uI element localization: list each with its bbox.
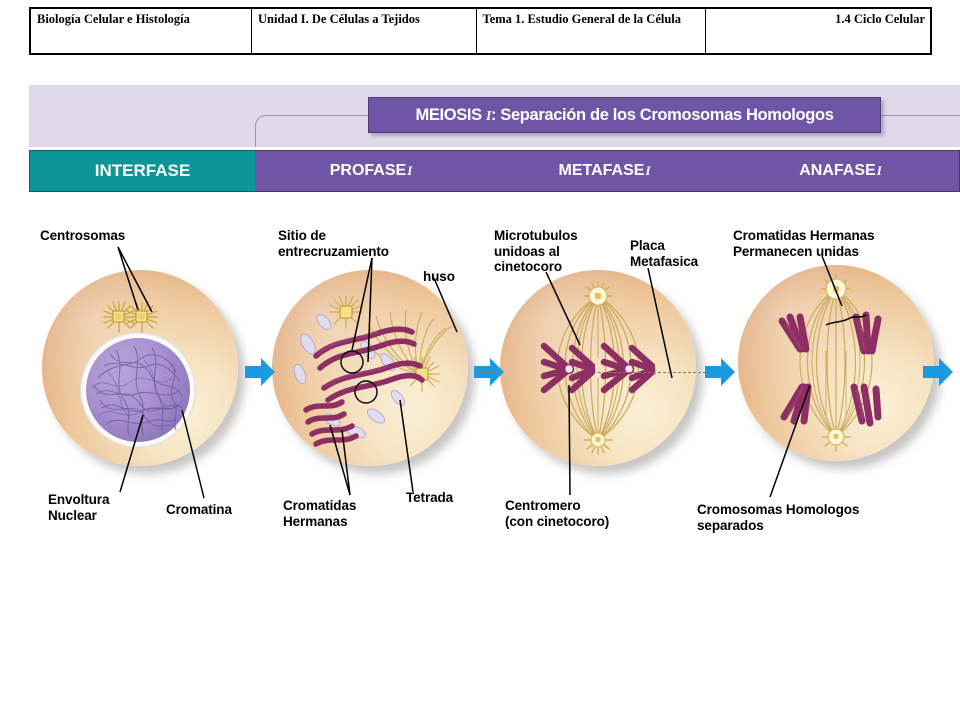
label-centromero: Centromero (con cinetocoro) [505, 498, 609, 529]
label-cromatidas-permanecen: Cromatidas Hermanas Permanecen unidas [733, 228, 874, 259]
label-placa-metafasica: Placa Metafasica [630, 238, 698, 269]
label-tetrada: Tetrada [406, 490, 453, 506]
label-cromatina: Cromatina [166, 502, 232, 518]
label-microtubulos: Microtubulos unidoas al cinetocoro [494, 228, 578, 275]
leader-lines [0, 0, 960, 720]
label-sitio-entrecruzamiento: Sitio de entrecruzamiento [278, 228, 389, 259]
label-huso: huso [423, 269, 455, 285]
label-cromosomas-separados: Cromosomas Homologos separados [697, 502, 859, 533]
meiosis-slide: Biología Celular e Histología Unidad I. … [0, 0, 960, 720]
label-cromatidas-hermanas: Cromatidas Hermanas [283, 498, 356, 529]
label-envoltura-nuclear: Envoltura Nuclear [48, 492, 109, 523]
